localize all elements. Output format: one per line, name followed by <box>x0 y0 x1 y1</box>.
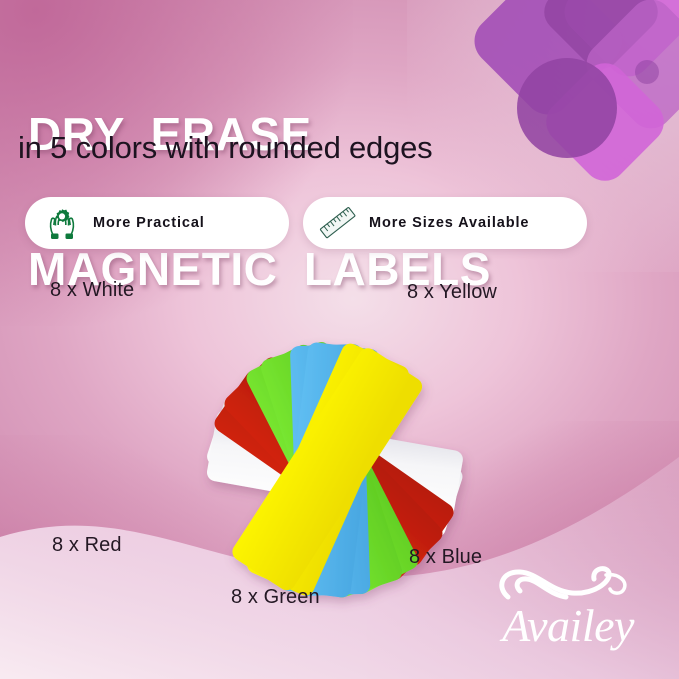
color-label-red: 8 x Red <box>52 534 122 557</box>
brand-name: Availey <box>468 599 668 652</box>
deco-circle-small <box>635 60 659 84</box>
hands-holding-gear-icon <box>41 202 83 244</box>
color-label-yellow: 8 x Yellow <box>407 281 497 304</box>
color-label-green: 8 x Green <box>231 586 320 609</box>
badge-more-sizes-available: More Sizes Available <box>303 197 587 249</box>
product-infographic: DRY ERASE MAGNETIC LABELS in 5 colors wi… <box>0 0 679 679</box>
ruler-icon <box>317 202 359 244</box>
badge-label: More Sizes Available <box>369 215 529 231</box>
color-label-white: 8 x White <box>50 279 134 302</box>
badge-more-practical: More Practical <box>25 197 289 249</box>
deco-circle-large <box>517 58 617 158</box>
brand-logo: Availey <box>468 565 668 665</box>
badge-label: More Practical <box>93 215 205 231</box>
subheadline: in 5 colors with rounded edges <box>18 130 432 166</box>
